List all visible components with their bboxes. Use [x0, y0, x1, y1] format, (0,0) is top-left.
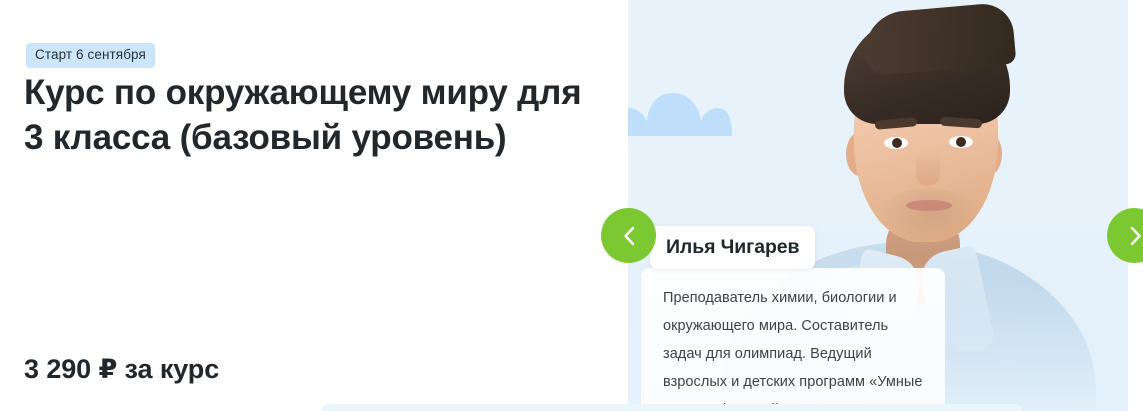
- portrait-nose: [916, 152, 940, 186]
- start-date-badge: Старт 6 сентября: [26, 43, 155, 68]
- teacher-description-card: Преподаватель химии, биологии и окружающ…: [641, 268, 945, 411]
- teacher-name-card: Илья Чигарев: [650, 226, 815, 269]
- price-label: 3 290 ₽ за курс: [24, 352, 219, 386]
- portrait-chin-shade: [880, 188, 980, 244]
- teacher-description-text: Преподаватель химии, биологии и окружающ…: [641, 268, 945, 411]
- portrait-pupil-right: [956, 137, 966, 147]
- teacher-name: Илья Чигарев: [666, 236, 799, 258]
- portrait-hair-sweep: [862, 2, 1017, 77]
- chevron-left-icon: [621, 225, 637, 247]
- page-title: Курс по окружающему миру для 3 класса (б…: [24, 70, 584, 160]
- slider-prev-button[interactable]: [601, 208, 656, 263]
- promo-banner: Старт 6 сентября Курс по окружающему мир…: [0, 0, 1143, 411]
- portrait-mouth: [906, 200, 952, 211]
- bottom-accent-band: [322, 404, 1022, 411]
- offer-info-column: Старт 6 сентября Курс по окружающему мир…: [0, 0, 628, 411]
- portrait-pupil-left: [892, 138, 902, 148]
- chevron-right-icon: [1127, 225, 1143, 247]
